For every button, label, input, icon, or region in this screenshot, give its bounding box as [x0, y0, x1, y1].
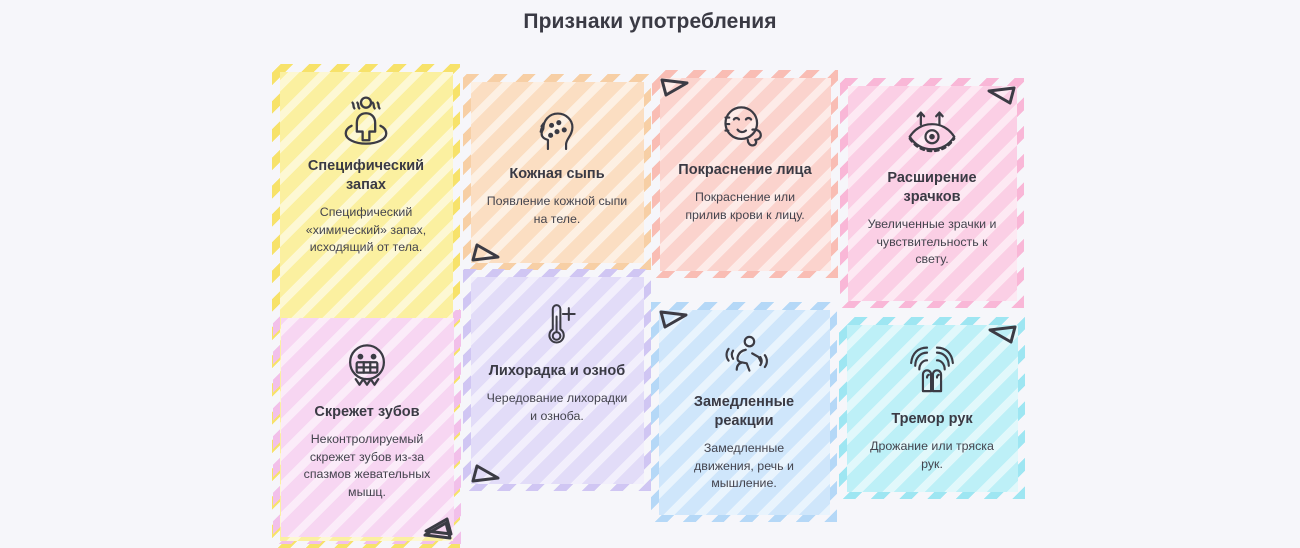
- smell-person-icon: [335, 93, 397, 147]
- card-content: Кожная сыпьПоявление кожной сыпи на теле…: [486, 99, 628, 228]
- card-content: Лихорадка и ознобЧередование лихорадки и…: [486, 294, 628, 425]
- card-description: Специфический «химический» запах, исходя…: [295, 204, 437, 257]
- card-title: Расширение зрачков: [863, 169, 1001, 207]
- card-title: Лихорадка и озноб: [489, 362, 626, 381]
- card-title: Покраснение лица: [678, 161, 811, 180]
- page-title: Признаки употребления: [0, 10, 1300, 34]
- card-description: Неконтролируемый скрежет зубов из-за спа…: [296, 431, 438, 501]
- card-content: Специфический запахСпецифический «химиче…: [295, 89, 437, 257]
- card-description: Увеличенные зрачки и чувствительность к …: [863, 216, 1001, 269]
- grinding-teeth-icon: [337, 339, 397, 393]
- card-title: Тремор рук: [891, 410, 972, 429]
- card-title: Специфический запах: [295, 157, 437, 195]
- card-hand-tremor[interactable]: Тремор рукДрожание или тряска рук.: [847, 325, 1017, 491]
- card-fever-chills[interactable]: Лихорадка и ознобЧередование лихорадки и…: [471, 277, 643, 483]
- trembling-hands-icon: [903, 346, 961, 400]
- dilated-eye-icon: [902, 107, 962, 159]
- head-rash-icon: [528, 103, 586, 155]
- card-description: Замедленные движения, речь и мышление.: [674, 440, 814, 493]
- card-content: Тремор рукДрожание или тряска рук.: [862, 342, 1002, 473]
- card-title: Кожная сыпь: [509, 165, 604, 184]
- thermometer-plus-icon: [530, 298, 584, 352]
- running-figure-icon: [715, 331, 773, 383]
- card-title: Замедленные реакции: [674, 393, 814, 431]
- infographic-board: Признаки употребления Специфический запа…: [0, 0, 1300, 546]
- card-skin-rash[interactable]: Кожная сыпьПоявление кожной сыпи на теле…: [471, 82, 643, 262]
- card-facial-flushing[interactable]: Покраснение лицаПокраснение или прилив к…: [660, 78, 830, 270]
- card-description: Дрожание или тряска рук.: [862, 438, 1002, 473]
- folded-corner-icon: [470, 241, 500, 263]
- card-content: Замедленные реакцииЗамедленные движения,…: [674, 327, 814, 493]
- card-description: Появление кожной сыпи на теле.: [486, 193, 628, 228]
- card-description: Чередование лихорадки и озноба.: [486, 390, 628, 425]
- flushed-face-icon: [715, 99, 775, 151]
- folded-corner-icon: [424, 515, 454, 537]
- card-dilated-pupils[interactable]: Расширение зрачковУвеличенные зрачки и ч…: [848, 86, 1016, 300]
- card-content: Скрежет зубовНеконтролируемый скрежет зу…: [296, 335, 438, 502]
- card-description: Покраснение или прилив крови к лицу.: [675, 189, 815, 224]
- card-slowed-reactions[interactable]: Замедленные реакцииЗамедленные движения,…: [659, 310, 829, 514]
- folded-corner-icon: [470, 462, 500, 484]
- card-teeth-grinding[interactable]: Скрежет зубовНеконтролируемый скрежет зу…: [281, 318, 453, 536]
- card-content: Расширение зрачковУвеличенные зрачки и ч…: [863, 103, 1001, 269]
- card-title: Скрежет зубов: [314, 403, 419, 422]
- card-content: Покраснение лицаПокраснение или прилив к…: [675, 95, 815, 224]
